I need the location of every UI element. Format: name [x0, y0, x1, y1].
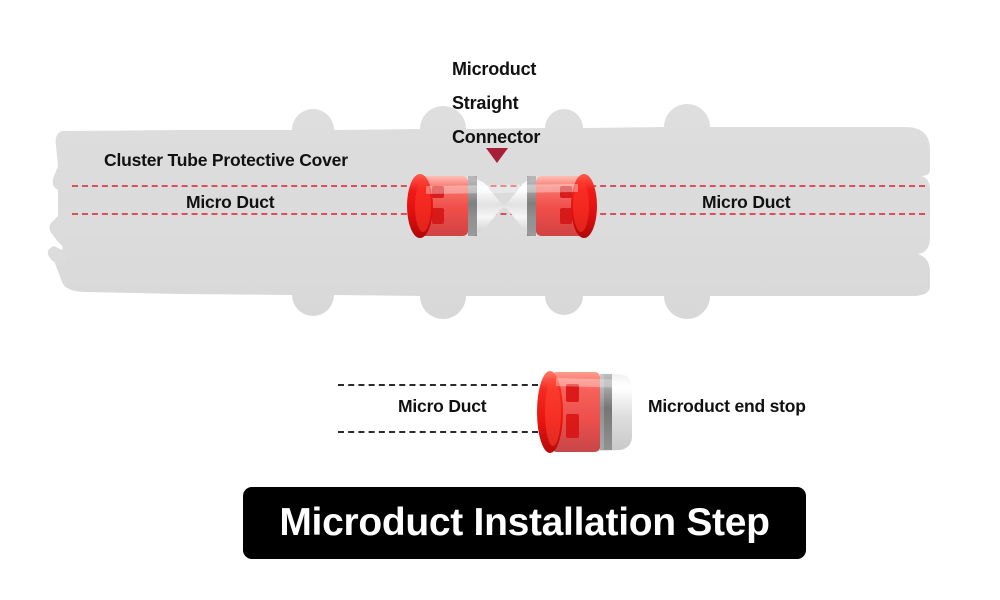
microduct-end-stop [528, 364, 644, 460]
down-triangle-arrow-icon [486, 148, 508, 163]
microduct-end-stop-label: Microduct end stop [648, 396, 806, 417]
microduct-label-endstop: Micro Duct [398, 396, 486, 417]
microduct-label-left: Micro Duct [186, 192, 274, 213]
endstop-guide-line-bottom [338, 431, 538, 433]
page-title: Microduct Installation Step [279, 501, 769, 545]
microduct-straight-connector [396, 156, 608, 256]
microduct-straight-connector-label: Microduct Straight Connector [452, 52, 540, 154]
connector-label-line1: Microduct [452, 52, 540, 86]
diagram-canvas: Microduct Straight Connector Cluster Tub… [0, 0, 1000, 600]
microduct-end-stop-diagram: Micro Duct Microduct end stop [0, 340, 1000, 480]
microduct-connector-diagram: Microduct Straight Connector Cluster Tub… [0, 0, 1000, 330]
title-banner: Microduct Installation Step [243, 487, 806, 559]
connector-label-line2: Straight [452, 86, 540, 120]
endstop-guide-line-top [338, 384, 538, 386]
microduct-label-right: Micro Duct [702, 192, 790, 213]
cluster-tube-protective-cover-label: Cluster Tube Protective Cover [104, 150, 348, 171]
